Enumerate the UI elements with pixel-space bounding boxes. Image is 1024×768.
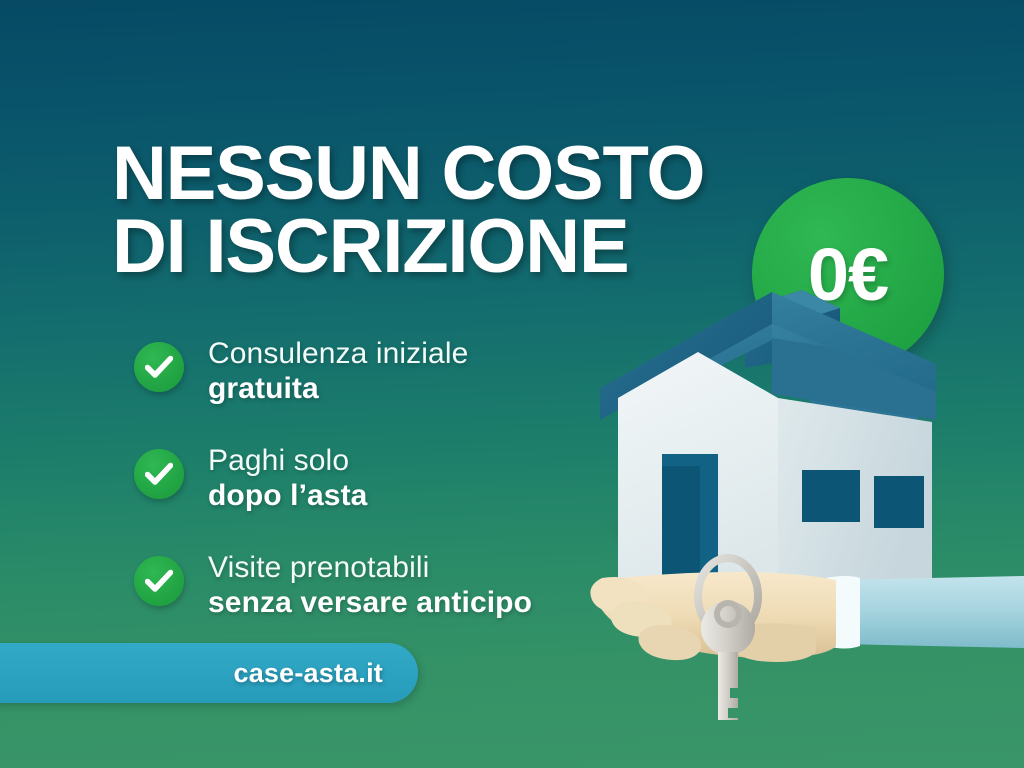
page-title: NESSUN COSTO DI ISCRIZIONE — [112, 138, 704, 284]
benefit-text-regular: Visite prenotabili — [208, 550, 604, 585]
benefit-text-bold: dopo l’asta — [208, 478, 604, 514]
check-circle-icon — [134, 342, 184, 392]
hand-holding-house-illustration — [540, 280, 1024, 720]
benefit-text-regular: Consulenza iniziale — [208, 336, 604, 371]
list-item: Consulenza iniziale gratuita — [134, 336, 604, 412]
check-circle-icon — [134, 556, 184, 606]
house-window-left — [802, 470, 860, 522]
headline-line-2: DI ISCRIZIONE — [112, 211, 704, 284]
promo-banner: NESSUN COSTO DI ISCRIZIONE 0€ — [0, 0, 1024, 768]
key — [701, 601, 755, 720]
check-circle-icon — [134, 449, 184, 499]
arm-sleeve — [840, 576, 1024, 648]
benefit-text-bold: gratuita — [208, 371, 604, 407]
benefit-text-regular: Paghi solo — [208, 443, 604, 478]
headline-line-1: NESSUN COSTO — [112, 138, 704, 211]
benefits-list: Consulenza iniziale gratuita Paghi solo … — [134, 336, 604, 626]
website-url-label: case-asta.it — [234, 643, 384, 703]
house-window-right — [874, 476, 924, 528]
list-item: Paghi solo dopo l’asta — [134, 443, 604, 519]
benefit-text-bold: senza versare anticipo — [208, 585, 604, 621]
list-item: Visite prenotabili senza versare anticip… — [134, 550, 604, 626]
website-url-pill[interactable]: case-asta.it — [0, 643, 418, 703]
